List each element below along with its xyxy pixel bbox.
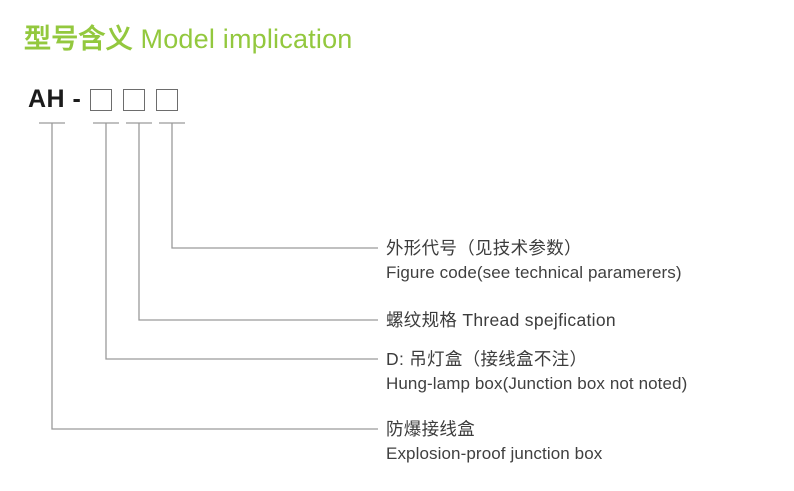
model-code-prefix: AH - [28,87,81,112]
label-hung-lamp-box-cn: D: 吊灯盒（接线盒不注） [386,347,687,372]
label-junction-box-en: Explosion-proof junction box [386,442,602,467]
model-code: AH - [28,87,178,112]
label-thread-spec-cn: 螺纹规格 Thread spejfication [386,308,616,333]
page-title-en: Model implication [141,24,353,54]
label-thread-spec: 螺纹规格 Thread spejfication [386,308,616,333]
leader-line-junction-box [52,123,378,429]
leader-line-figure-code [172,123,378,248]
page-title-cn: 型号含义 [24,24,133,54]
model-code-slots [90,89,178,111]
leader-line-thread-spec [139,123,378,320]
label-junction-box-cn: 防爆接线盒 [386,417,602,442]
label-hung-lamp-box: D: 吊灯盒（接线盒不注） Hung-lamp box(Junction box… [386,347,687,397]
label-figure-code-en: Figure code(see technical paramerers) [386,261,682,286]
leader-line-hung-lamp-box [106,123,378,359]
label-figure-code: 外形代号（见技术参数） Figure code(see technical pa… [386,236,682,286]
model-code-slot-1 [90,89,112,111]
model-code-slot-3 [156,89,178,111]
label-junction-box: 防爆接线盒 Explosion-proof junction box [386,417,602,467]
label-figure-code-cn: 外形代号（见技术参数） [386,236,682,261]
model-code-slot-2 [123,89,145,111]
page-title: 型号含义 Model implication [24,17,353,56]
label-hung-lamp-box-en: Hung-lamp box(Junction box not noted) [386,372,687,397]
